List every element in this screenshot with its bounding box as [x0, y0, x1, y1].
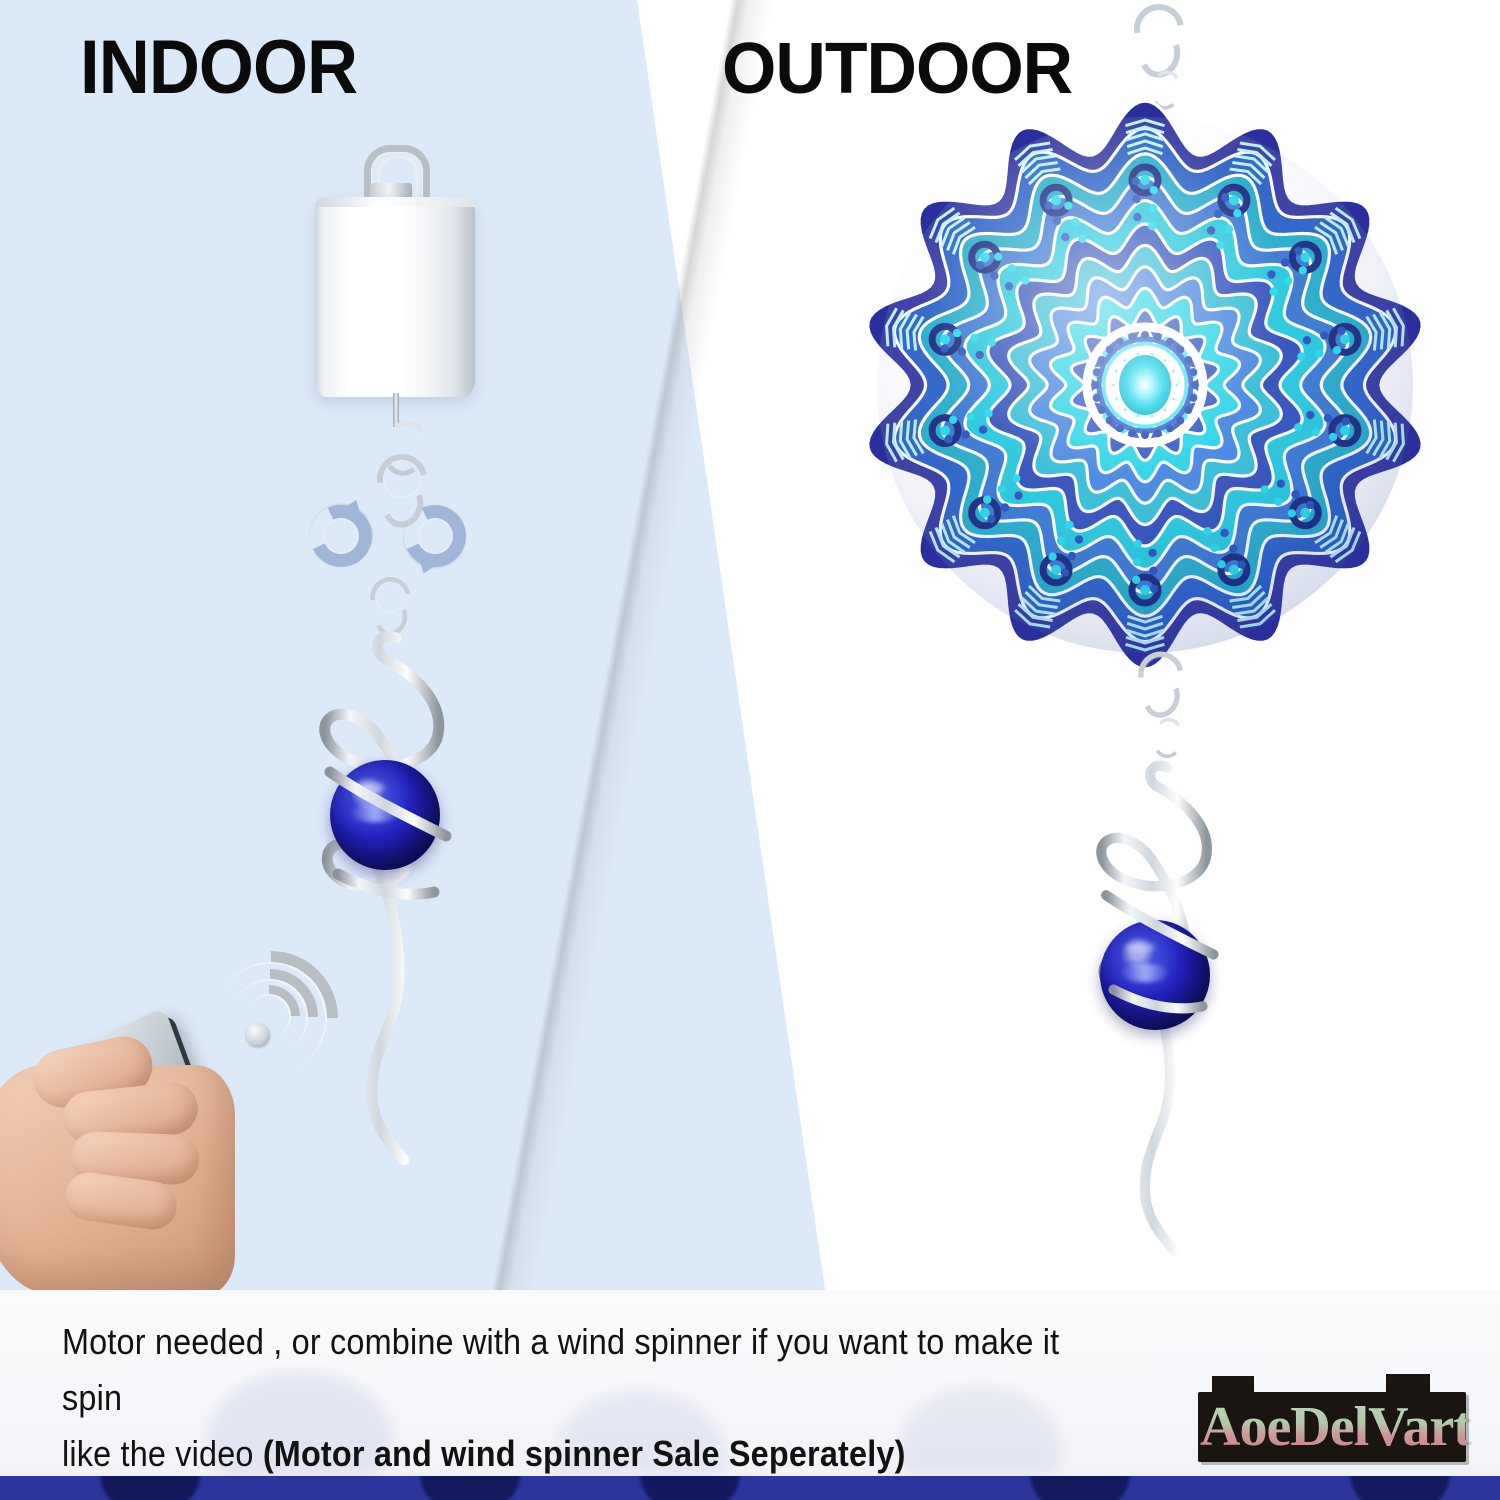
- caption-line-1: Motor needed , or combine with a wind sp…: [62, 1321, 1059, 1418]
- rotation-arrow-left-icon: [310, 505, 372, 567]
- brand-logo-text: AoeDelVart: [1200, 1394, 1466, 1460]
- brand-logo: AoeDelVart: [1186, 1370, 1476, 1474]
- mandala-wind-spinner: [855, 95, 1435, 675]
- lower-hook-icon: [370, 577, 405, 633]
- caption-text: Motor needed , or combine with a wind sp…: [62, 1314, 1061, 1476]
- wind-spinner-motor: [300, 145, 510, 410]
- motor-body: [315, 197, 475, 397]
- indoor-spiral-tail: [318, 630, 508, 1170]
- caption-line-2-bold: (Motor and wind spinner Sale Seperately): [263, 1433, 906, 1474]
- rotation-arrow-right-icon: [404, 505, 466, 567]
- caption-line-2-plain: like the video: [62, 1433, 263, 1474]
- indoor-label: INDOOR: [80, 24, 357, 111]
- remote-control-in-hand: [0, 1025, 315, 1295]
- outdoor-lower-hook: [1130, 648, 1200, 778]
- outdoor-blue-glass-orb: [1100, 920, 1210, 1030]
- indoor-blue-glass-orb: [330, 760, 440, 870]
- product-image-canvas: INDOOR OUTDOOR: [0, 0, 1500, 1500]
- bottom-accent-strip: [0, 1476, 1500, 1500]
